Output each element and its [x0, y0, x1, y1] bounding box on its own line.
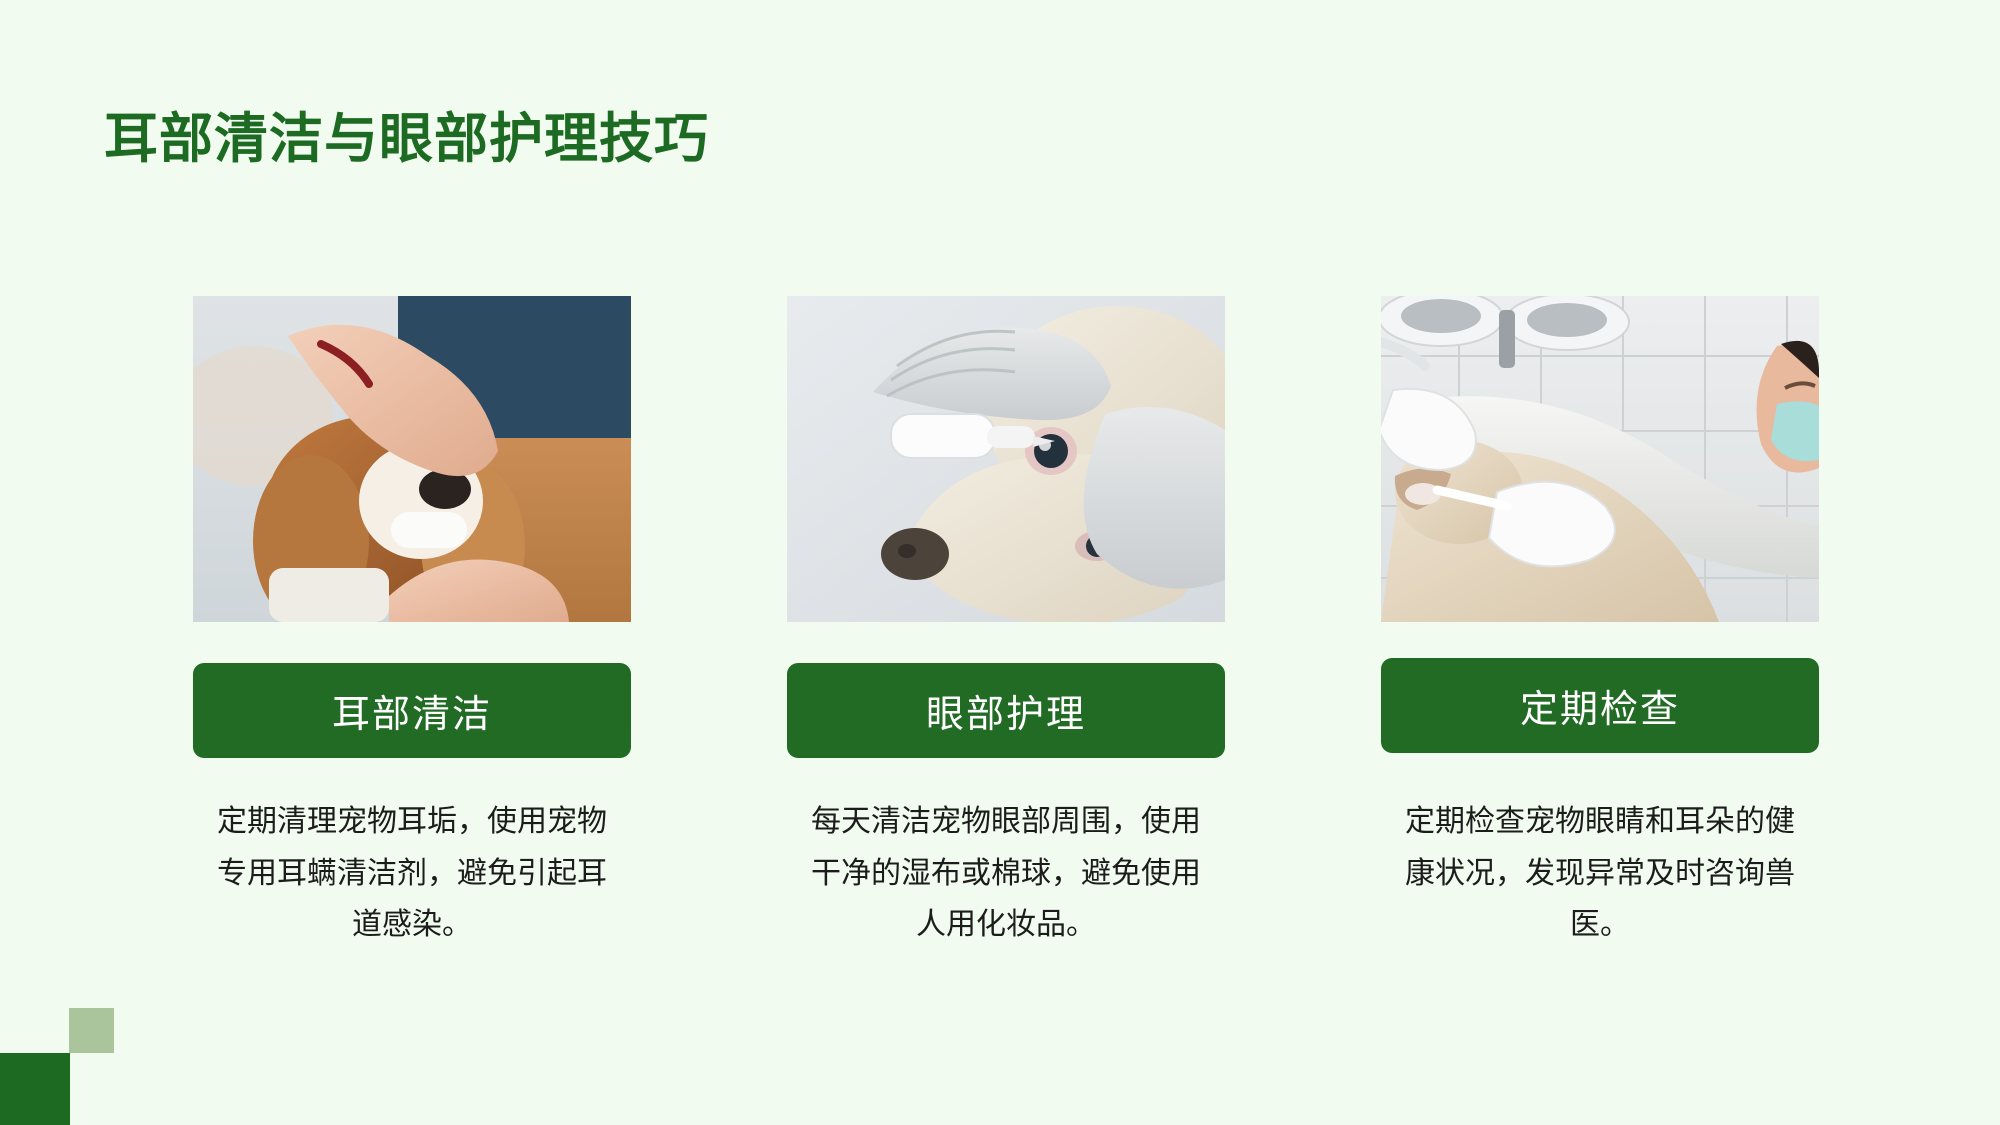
card-description-eye-care: 每天清洁宠物眼部周围，使用干净的湿布或棉球，避免使用人用化妆品。: [806, 796, 1206, 951]
card-label-text: 眼部护理: [926, 683, 1086, 738]
card-label-ear-cleaning[interactable]: 耳部清洁: [193, 663, 631, 758]
content-card-ear-cleaning[interactable]: 耳部清洁 定期清理宠物耳垢，使用宠物专用耳螨清洁剂，避免引起耳道感染。: [193, 296, 631, 981]
regular-checkup-illustration: [1381, 296, 1819, 622]
dark-green-square-decoration: [0, 1053, 70, 1125]
ear-cleaning-illustration: [193, 296, 631, 622]
card-photo-eye-care: [787, 296, 1225, 622]
card-label-text: 定期检查: [1520, 678, 1680, 733]
content-card-regular-checkup[interactable]: 定期检查 定期检查宠物眼睛和耳朵的健康状况，发现异常及时咨询兽医。: [1381, 296, 1819, 981]
card-photo-ear-cleaning: [193, 296, 631, 622]
content-columns: 耳部清洁 定期清理宠物耳垢，使用宠物专用耳螨清洁剂，避免引起耳道感染。: [0, 296, 2000, 996]
content-card-eye-care[interactable]: 眼部护理 每天清洁宠物眼部周围，使用干净的湿布或棉球，避免使用人用化妆品。: [787, 296, 1225, 981]
card-photo-regular-checkup: [1381, 296, 1819, 622]
eye-care-illustration: [787, 296, 1225, 622]
card-description-regular-checkup: 定期检查宠物眼睛和耳朵的健康状况，发现异常及时咨询兽医。: [1400, 796, 1800, 951]
sage-square-decoration: [69, 1008, 114, 1053]
page-title: 耳部清洁与眼部护理技巧: [104, 108, 709, 172]
card-label-eye-care[interactable]: 眼部护理: [787, 663, 1225, 758]
card-label-text: 耳部清洁: [332, 683, 492, 738]
card-label-regular-checkup[interactable]: 定期检查: [1381, 658, 1819, 753]
card-description-ear-cleaning: 定期清理宠物耳垢，使用宠物专用耳螨清洁剂，避免引起耳道感染。: [212, 796, 612, 951]
